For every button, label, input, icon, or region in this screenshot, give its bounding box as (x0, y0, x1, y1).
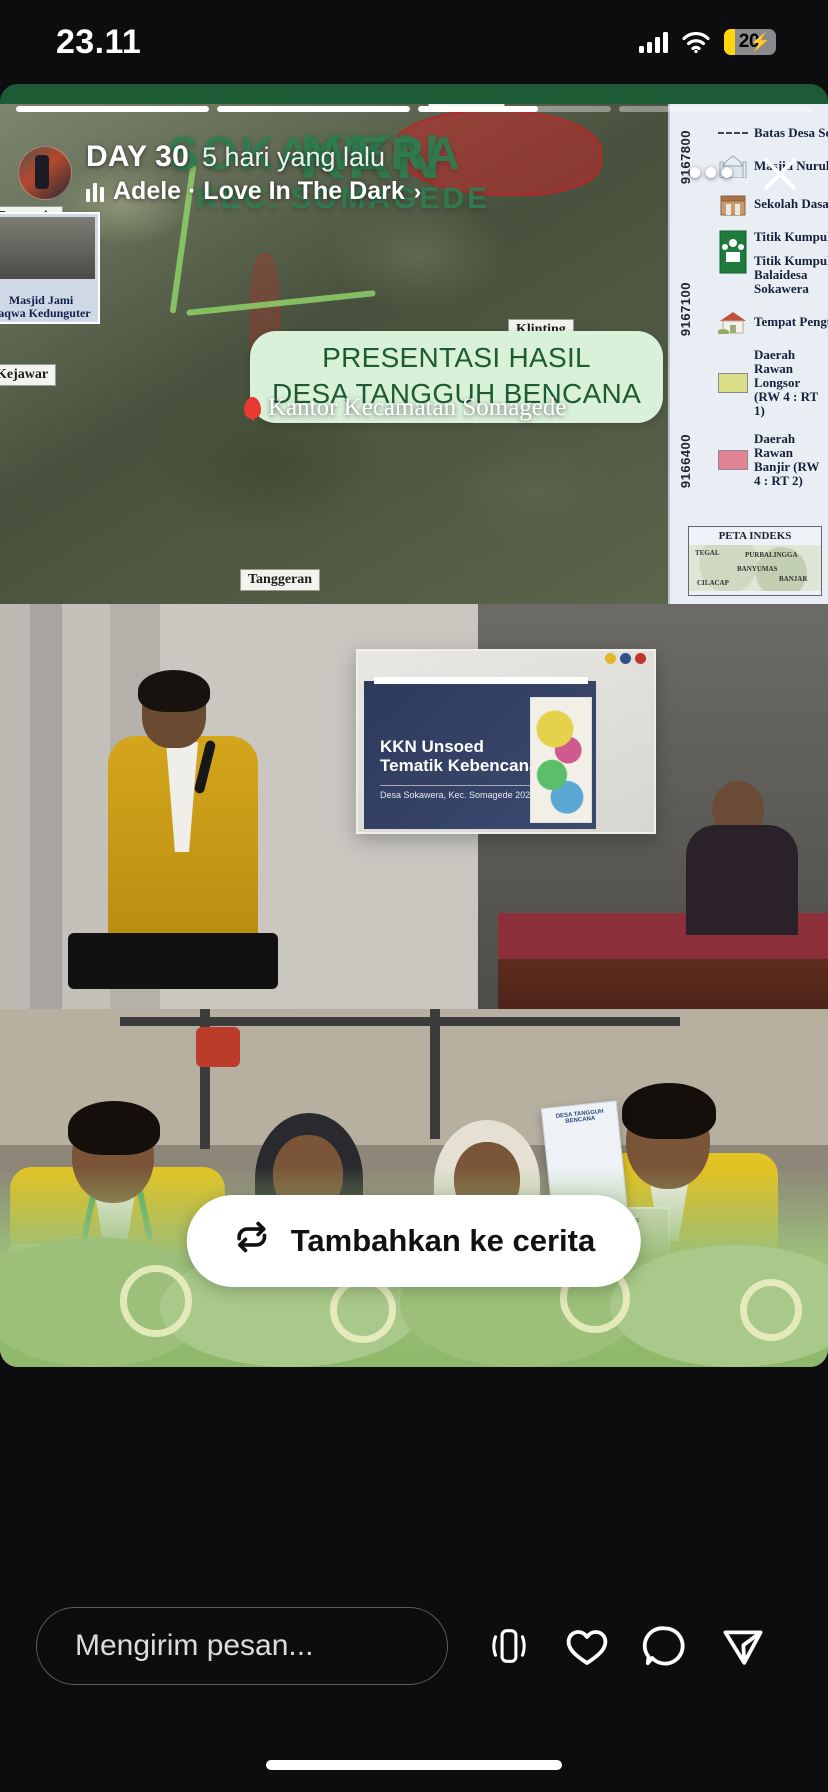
sticker-title-line1: PRESENTASI HASIL (272, 340, 641, 376)
legend-item: Daerah Rawan Longsor (RW 4 : RT 1) (718, 348, 824, 418)
story-card[interactable]: KKN SOKAWERA KEC. SOMAGEDE Danaraja Soma… (0, 84, 828, 1367)
index-sublabel: CILACAP (697, 579, 729, 587)
progress-segment[interactable] (217, 106, 410, 112)
seated-attendee (682, 781, 802, 931)
presentation-podium (68, 933, 278, 989)
story-header-text: DAY 30 5 hari yang lalu Adele · Love In … (86, 140, 670, 206)
wifi-icon (682, 32, 710, 53)
story-day-label: DAY 30 (86, 140, 189, 174)
presentation-slide: KKN Unsoed Tematik Kebencanaan Desa Soka… (364, 681, 596, 829)
story-music-row[interactable]: Adele · Love In The Dark › (86, 177, 670, 206)
chevron-right-icon: › (414, 179, 421, 205)
legend-label: Daerah Rawan Longsor (RW 4 : RT 1) (754, 348, 824, 418)
index-sublabel: TEGAL (695, 549, 720, 557)
legend-label: Daerah Rawan Banjir (RW 4 : RT 2) (754, 432, 824, 488)
battery-charging-icon: 20 ⚡ (724, 29, 776, 55)
location-pin-icon (244, 397, 261, 419)
story-header: DAY 30 5 hari yang lalu Adele · Love In … (0, 124, 828, 222)
projector-screen: KKN Unsoed Tematik Kebencanaan Desa Soka… (356, 649, 656, 834)
map-inset-caption-1: Masjid Jami (0, 294, 98, 307)
map-index-thumbnail: TEGAL PURBALINGGA BANYUMAS CILACAP BANJA… (689, 545, 821, 591)
legend-label: Tempat Pengungsian (754, 315, 828, 329)
presenter-person (108, 674, 258, 939)
assembly-point-icon (718, 230, 748, 274)
map-place-label: Tanggeran (240, 569, 320, 591)
story-action-icons (448, 1617, 782, 1675)
index-sublabel: BANJAR (779, 575, 807, 583)
legend-label: Titik Kumpul Balaidesa Sokawera (754, 254, 828, 296)
map-grid-coordinate: 9166400 (678, 434, 693, 488)
slide-map-thumbnail (530, 697, 592, 823)
location-sticker-label: Kantor Kecamatan Somagede (268, 394, 567, 422)
location-sticker[interactable]: Kantor Kecamatan Somagede (244, 394, 567, 422)
share-icon[interactable] (714, 1617, 772, 1675)
map-grid-coordinate: 9167100 (678, 282, 693, 336)
map-index-title: PETA INDEKS (689, 530, 821, 542)
home-indicator (266, 1760, 562, 1770)
background-structure (120, 1017, 680, 1026)
comment-icon[interactable] (636, 1617, 694, 1675)
story-timestamp: 5 hari yang lalu (202, 142, 385, 173)
background-structure (196, 1027, 240, 1067)
slide-subtitle: Desa Sokawera, Kec. Somagede 2026 (380, 785, 535, 800)
status-bar-indicators: 20 ⚡ (639, 29, 776, 55)
index-sublabel: PURBALINGGA (745, 551, 798, 559)
progress-segment[interactable] (16, 106, 209, 112)
heart-icon[interactable] (558, 1617, 616, 1675)
add-to-story-label: Tambahkan ke cerita (291, 1223, 595, 1259)
music-note-icon (86, 182, 104, 202)
legend-item: Daerah Rawan Banjir (RW 4 : RT 2) (718, 432, 824, 488)
reply-placeholder: Mengirim pesan... (75, 1629, 313, 1663)
brochure-title: DESA TANGGUH BENCANA (543, 1107, 618, 1127)
map-photo-inset: Masjid Jami Taqwa Kedunguter (0, 212, 100, 324)
shelter-icon (718, 310, 748, 334)
story-reply-bar: Mengirim pesan... (0, 1596, 828, 1696)
progress-segment[interactable] (619, 106, 812, 112)
map-inset-caption-2: Taqwa Kedunguter (0, 307, 98, 320)
slide-logos (605, 653, 646, 664)
legend-swatch-landslide (718, 373, 748, 393)
cellular-signal-icon (639, 31, 668, 53)
media-presentation-photo: KKN Unsoed Tematik Kebencanaan Desa Soka… (0, 604, 828, 1009)
legend-item: Titik Kumpul Titik Kumpul Balaidesa Soka… (718, 230, 824, 296)
add-to-story-button[interactable]: Tambahkan ke cerita (187, 1195, 641, 1287)
legend-swatch-flood (718, 450, 748, 470)
reply-input[interactable]: Mengirim pesan... (36, 1607, 448, 1685)
map-index-box: PETA INDEKS TEGAL PURBALINGGA BANYUMAS C… (688, 526, 822, 596)
progress-segment-active[interactable] (418, 106, 611, 112)
repost-icon (233, 1218, 271, 1264)
avatar[interactable] (18, 146, 72, 200)
close-icon[interactable] (754, 147, 806, 199)
legend-label: Titik Kumpul (754, 230, 828, 244)
status-bar: 23.11 20 ⚡ (0, 0, 828, 84)
legend-item: Tempat Pengungsian (718, 310, 824, 334)
story-progress-bar[interactable] (16, 106, 812, 112)
more-options-icon[interactable]: ••• (684, 165, 740, 181)
shake-phone-icon[interactable] (480, 1617, 538, 1675)
map-place-label: Kejawar (0, 364, 56, 386)
story-music-label: Adele · Love In The Dark (113, 177, 405, 206)
index-sublabel: BANYUMAS (737, 565, 777, 573)
status-bar-time: 23.11 (56, 23, 141, 62)
